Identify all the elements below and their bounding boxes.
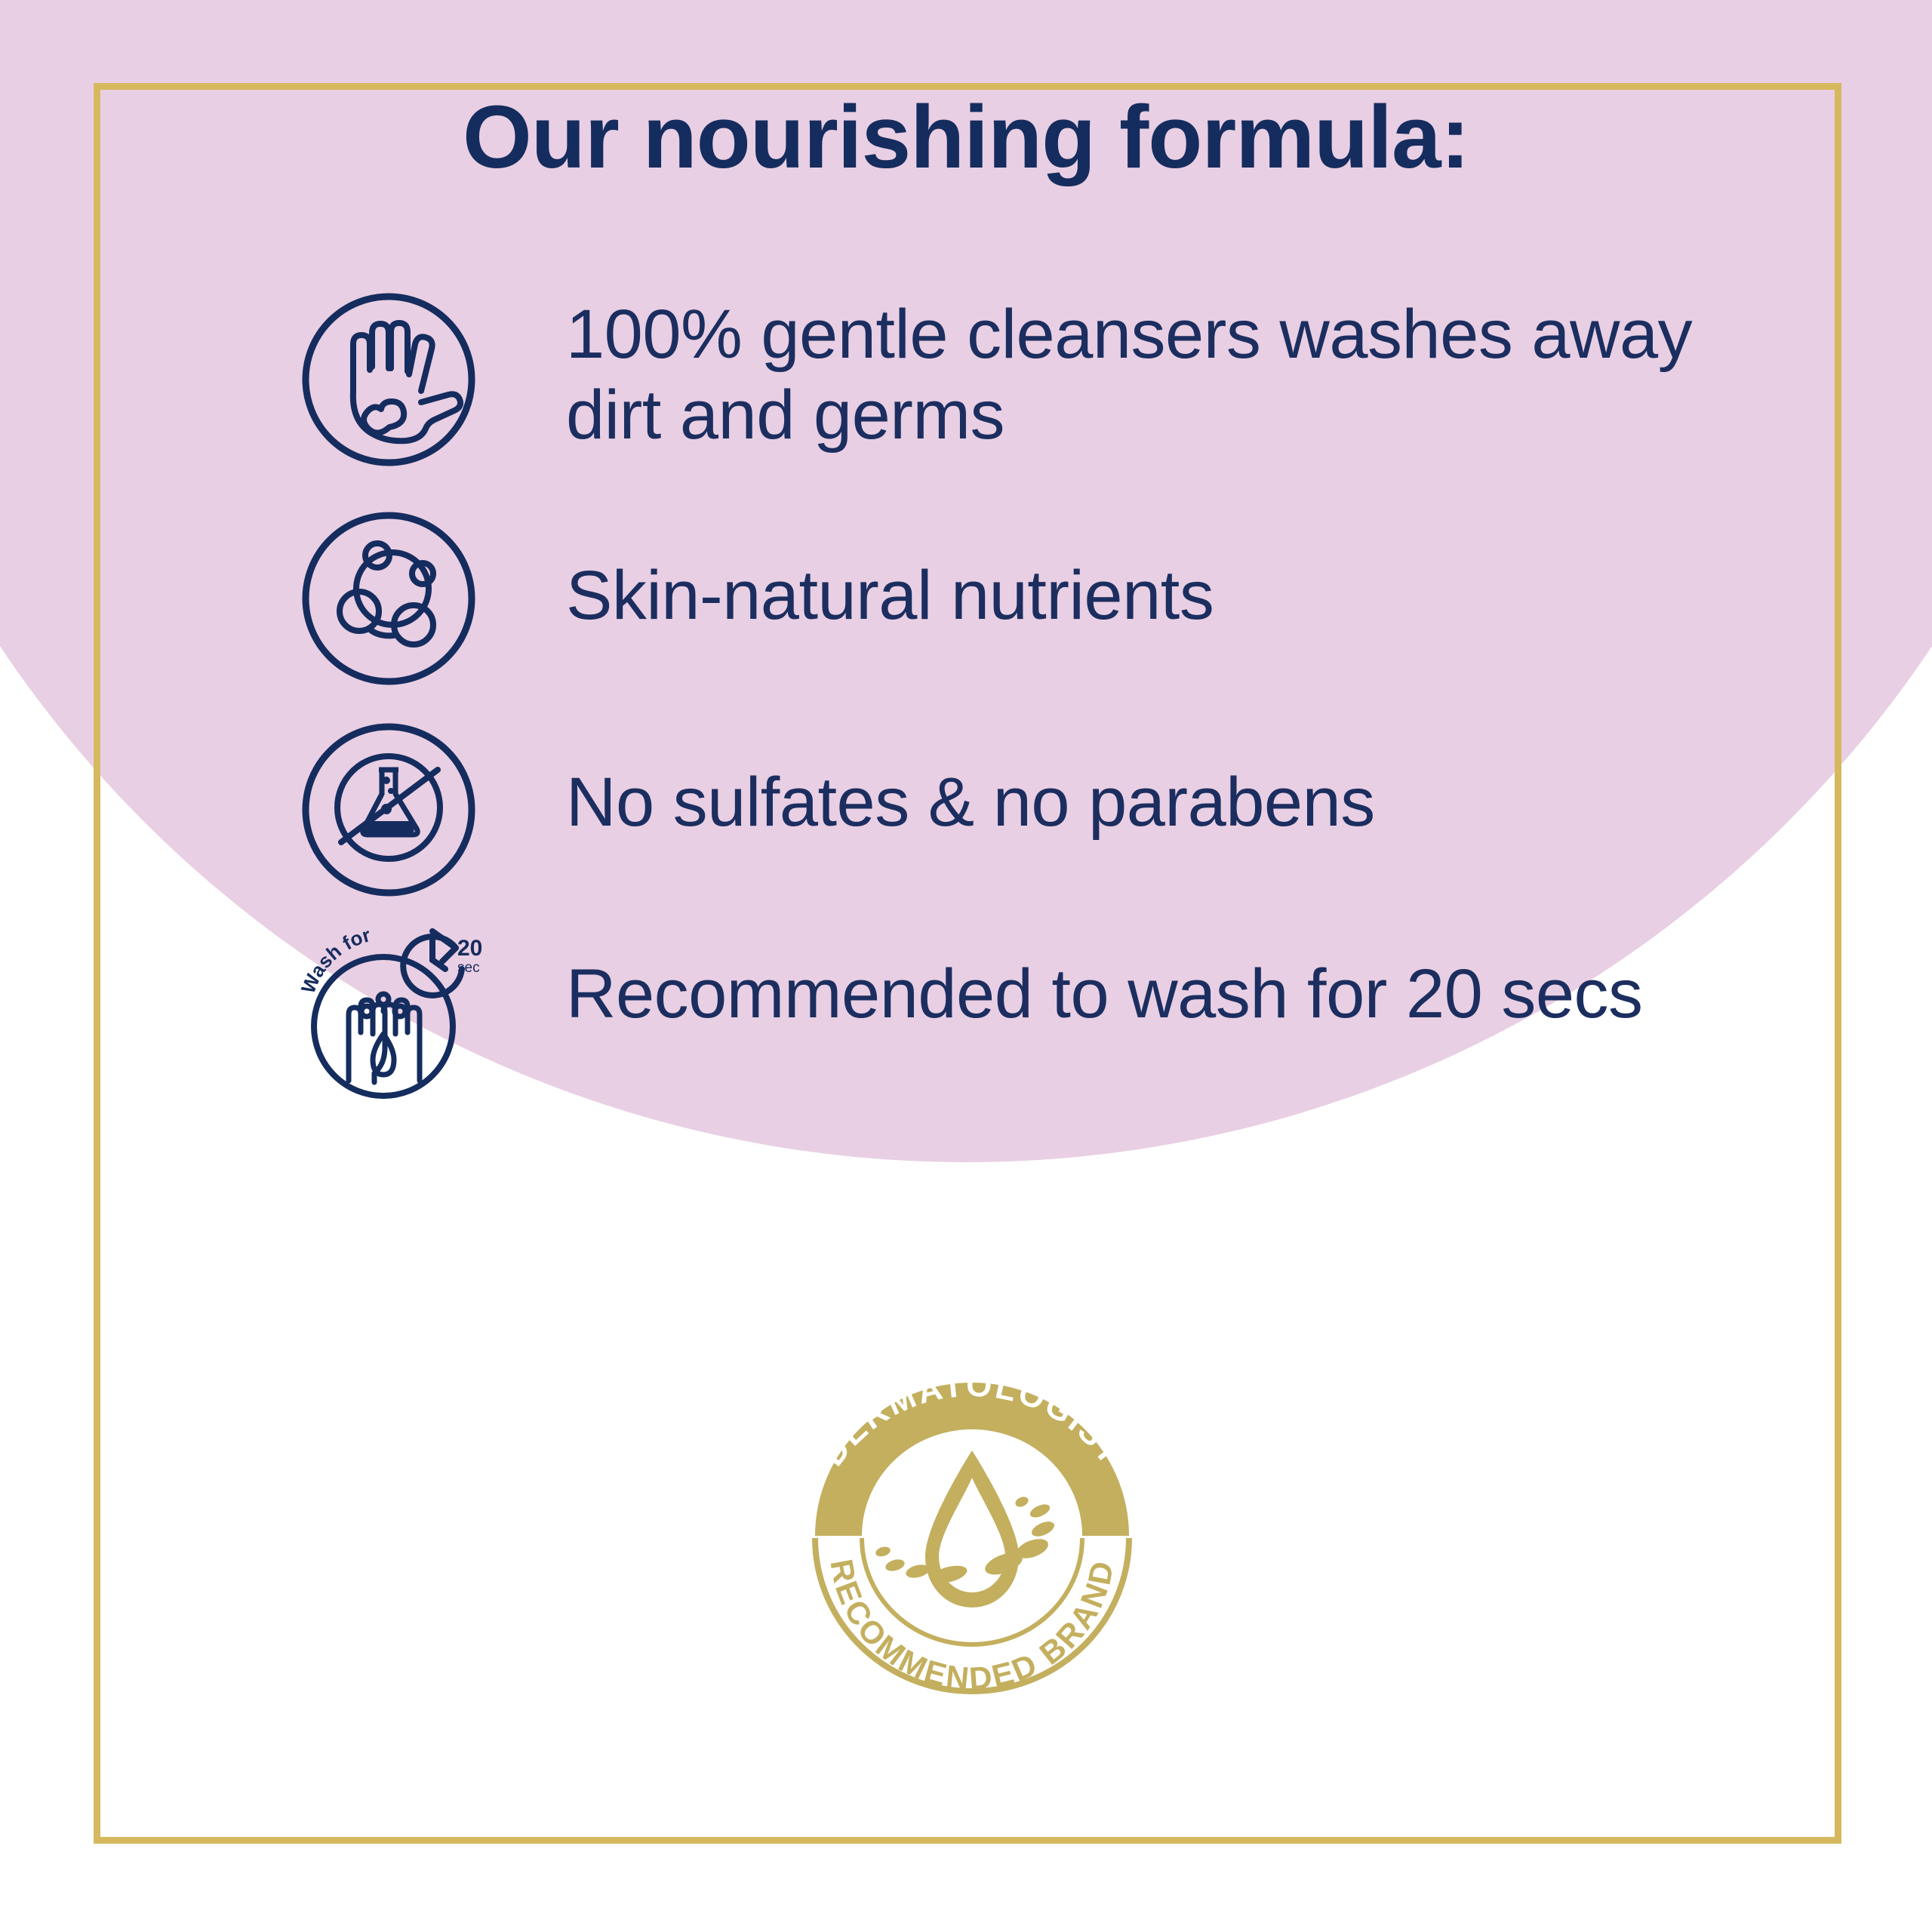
badge-inner-ring-lower [862,1538,1082,1644]
feature-label: Recommended to wash for 20 secs [566,915,1728,1035]
frame-bottom-edge [94,1837,1841,1844]
water-droplet-icon [875,1451,1057,1607]
hand-with-heart-icon [294,285,483,474]
frame-right-edge [1835,83,1841,1844]
duration-unit: sec [457,960,480,976]
dermatologist-recommended-badge: DERMATOLOGIST RECOMMENDED BRAND [723,1351,1221,1721]
feature-label: No sulfates & no parabens [566,715,1728,843]
wash-20-seconds-icon: Wash for 20 sec [294,915,483,1103]
feature-row-no-sulfates-parabens: No sulfates & no parabens [294,715,1728,904]
feature-label: Skin-natural nutrients [566,504,1728,636]
feature-row-gentle-cleansers: 100% gentle cleansers washes away dirt a… [294,285,1728,474]
duration-value: 20 [457,936,482,961]
feature-label: 100% gentle cleansers washes away dirt a… [566,285,1728,455]
frame-left-edge [94,83,100,1844]
no-flask-icon [294,715,483,904]
feature-row-wash-20-seconds: Wash for 20 sec [294,915,1728,1103]
bubbles-nutrients-icon [294,504,483,693]
feature-row-skin-natural-nutrients: Skin-natural nutrients [294,504,1728,693]
page-title: Our nourishing formula: [0,89,1932,187]
product-feature-infographic: Our nourishing formula: 100% gentle clea… [0,0,1932,1932]
